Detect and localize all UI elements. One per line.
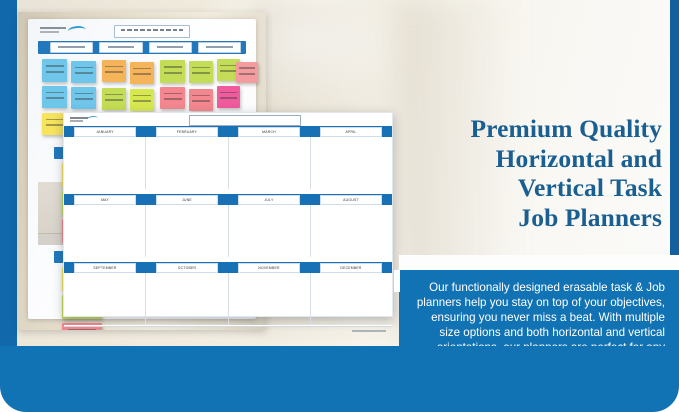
planner-month-label: AUGUST bbox=[320, 195, 381, 205]
planner-footer bbox=[64, 326, 392, 336]
planner-month-label: FEBRUARY bbox=[156, 127, 217, 137]
planner-month-cell[interactable] bbox=[146, 273, 228, 325]
whiteboard-month-cell bbox=[198, 42, 241, 53]
headline-line: Premium Quality bbox=[404, 114, 662, 144]
whiteboard-month-header-row bbox=[38, 41, 246, 54]
planner-month-cell[interactable] bbox=[229, 273, 311, 325]
planner-month-body-row bbox=[64, 273, 392, 326]
planner-month-cell[interactable] bbox=[64, 205, 146, 257]
planner-month-header-cell: NOVEMBER bbox=[228, 264, 310, 272]
planner-month-body-row bbox=[64, 205, 392, 258]
planner-month-grid: JANUARYFEBRUARYMARCHAPRILMAYJUNEJULYAUGU… bbox=[64, 126, 392, 326]
planner-month-header-cell: APRIL bbox=[310, 128, 392, 136]
planner-month-label: JULY bbox=[238, 195, 299, 205]
planner-month-cell[interactable] bbox=[64, 273, 146, 325]
planner-month-header-row: JANUARYFEBRUARYMARCHAPRIL bbox=[64, 126, 392, 137]
panel-notch bbox=[394, 270, 400, 292]
sticky-note bbox=[71, 61, 96, 83]
planner-month-cell[interactable] bbox=[229, 205, 311, 257]
planner-month-cell[interactable] bbox=[311, 137, 392, 189]
whiteboard-month-cell bbox=[149, 42, 192, 53]
planner-month-cell[interactable] bbox=[311, 205, 392, 257]
planner-month-header-cell: AUGUST bbox=[310, 196, 392, 204]
whiteboard-title-box bbox=[114, 25, 190, 38]
bottom-blue-band bbox=[0, 354, 679, 412]
planner-title-field[interactable] bbox=[189, 115, 301, 126]
panel-top-gap bbox=[399, 255, 679, 270]
planner-month-header-cell: DECEMBER bbox=[310, 264, 392, 272]
planner-month-header-cell: OCTOBER bbox=[146, 264, 228, 272]
sticky-note bbox=[217, 86, 240, 108]
planner-month-label: NOVEMBER bbox=[238, 263, 299, 273]
sticky-note bbox=[130, 89, 154, 111]
whiteboard-month-cell bbox=[99, 42, 142, 53]
sticky-note bbox=[160, 60, 185, 83]
planner-month-header-cell: MARCH bbox=[228, 128, 310, 136]
planner-month-header-cell: MAY bbox=[64, 196, 146, 204]
planner-month-label: MAY bbox=[74, 195, 135, 205]
planner-month-label: MARCH bbox=[238, 127, 299, 137]
promo-banner: JANUARYFEBRUARYMARCHAPRILMAYJUNEJULYAUGU… bbox=[0, 0, 679, 412]
sticky-note bbox=[160, 87, 185, 109]
headline-line: Horizontal and bbox=[404, 144, 662, 174]
sticky-note bbox=[102, 60, 126, 82]
planner-month-header-cell: SEPTEMBER bbox=[64, 264, 146, 272]
whiteboard-logo bbox=[40, 26, 86, 37]
planner-month-cell[interactable] bbox=[229, 137, 311, 189]
horizontal-planner-document: JANUARYFEBRUARYMARCHAPRILMAYJUNEJULYAUGU… bbox=[63, 112, 393, 317]
planner-month-header-cell: JULY bbox=[228, 196, 310, 204]
left-edge-bar bbox=[0, 0, 17, 380]
planner-month-header-row: MAYJUNEJULYAUGUST bbox=[64, 194, 392, 205]
planner-month-label: SEPTEMBER bbox=[74, 263, 135, 273]
planner-month-cell[interactable] bbox=[146, 137, 228, 189]
sticky-note bbox=[102, 88, 126, 110]
planner-month-header-cell: JANUARY bbox=[64, 128, 146, 136]
planner-header bbox=[64, 113, 392, 126]
page-title: Premium Quality Horizontal and Vertical … bbox=[404, 114, 662, 232]
planner-month-body-row bbox=[64, 137, 392, 190]
planner-month-cell[interactable] bbox=[64, 137, 146, 189]
sticky-note bbox=[189, 61, 213, 83]
planner-month-cell[interactable] bbox=[311, 273, 392, 325]
sticky-note bbox=[42, 86, 67, 108]
sticky-note bbox=[130, 62, 154, 84]
planner-month-header-cell: JUNE bbox=[146, 196, 228, 204]
sticky-note bbox=[42, 59, 67, 82]
planner-month-label: OCTOBER bbox=[156, 263, 217, 273]
headline-line: Job Planners bbox=[404, 203, 662, 233]
headline-line: Vertical Task bbox=[404, 173, 662, 203]
planner-month-label: APRIL bbox=[320, 127, 381, 137]
planner-month-label: DECEMBER bbox=[320, 263, 381, 273]
planner-month-header-row: SEPTEMBEROCTOBERNOVEMBERDECEMBER bbox=[64, 262, 392, 273]
planner-month-label: JANUARY bbox=[74, 127, 135, 137]
whiteboard-month-cell bbox=[50, 42, 93, 53]
sticky-note bbox=[71, 87, 96, 109]
planner-month-header-cell: FEBRUARY bbox=[146, 128, 228, 136]
planner-month-cell[interactable] bbox=[146, 205, 228, 257]
planner-logo bbox=[70, 116, 98, 124]
sticky-note bbox=[236, 62, 258, 83]
planner-month-label: JUNE bbox=[156, 195, 217, 205]
sticky-note bbox=[189, 89, 213, 111]
